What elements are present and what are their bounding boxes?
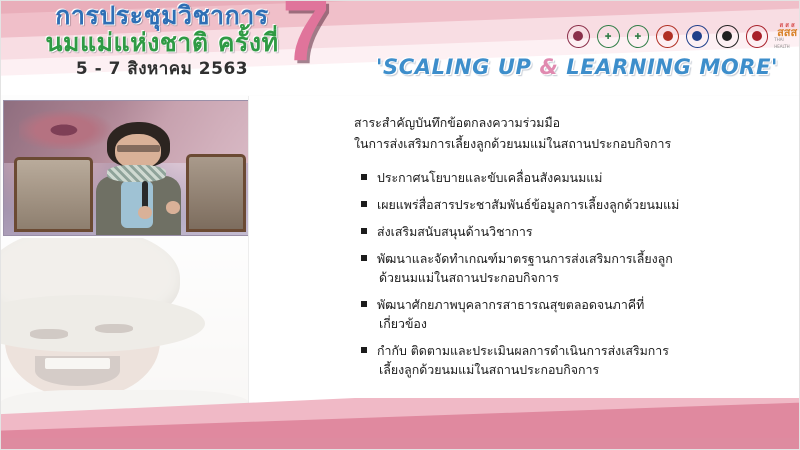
logo-royal-seal [566,24,591,49]
partner-logo-strip: ✚ ✚ ส ส ส สสส THAI HEALTH [566,22,800,50]
speaker-glasses [117,145,160,152]
conference-title-line2: นมแม่แห่งชาติ ครั้งที่ [12,29,312,57]
slide-footer-band [0,398,800,450]
logo-thaihealth: ส ส ส สสส THAI HEALTH [774,22,800,50]
bullet-square-icon [361,347,367,353]
conference-title-line1: การประชุมวิชาการ [12,2,312,30]
speaker-hand-right [166,201,180,213]
slide-header: การประชุมวิชาการ นมแม่แห่งชาติ ครั้งที่ … [0,0,800,95]
bullet-line2: เลี้ยงลูกด้วยนมแม่ในสถานประกอบกิจการ [377,360,786,379]
logo-royal-crest [685,24,710,49]
bullet-square-icon [361,301,367,307]
watermark-child-eye-right [95,324,133,334]
speaker-inner-top [121,181,153,228]
content-lead-line1: สาระสำคัญบันทึกข้อตกลงความร่วมมือ [354,112,784,133]
conference-tagline: 'SCALING UP & LEARNING MORE' [362,55,792,79]
bullet-line2: ด้วยนมแม่ในสถานประกอบกิจการ [377,268,786,287]
watermark-child-eye-left [30,329,68,339]
tagline-ampersand: & [539,55,558,79]
bullet-line1: กำกับ ติดตามและประเมินผลการดำเนินการส่งเ… [377,343,669,358]
bullet-line1: ประกาศนโยบายและขับเคลื่อนสังคมนมแม่ [377,170,602,185]
content-lead-line2: ในการส่งเสริมการเลี้ยงลูกด้วยนมแม่ในสถาน… [354,133,784,154]
bullet-square-icon [361,228,367,234]
bullet-item: ส่งเสริมสนับสนุนด้านวิชาการ [361,222,786,241]
logo-thaihealth-sub: THAI HEALTH [774,36,800,50]
bullet-line1: พัฒนาและจัดทำเกณฑ์มาตรฐานการส่งเสริมการเ… [377,251,673,266]
bullet-line1: ส่งเสริมสนับสนุนด้านวิชาการ [377,224,533,239]
watermark-child-teeth [45,358,110,369]
tagline-part-close: LEARNING MORE' [558,55,778,79]
logo-thaihealth-main: สสส [777,29,797,36]
bullet-square-icon [361,174,367,180]
bullet-line1: พัฒนาศักยภาพบุคลากรสาธารณสุขตลอดจนภาคีที… [377,297,644,312]
logo-ministry-public-health: ✚ [596,24,621,49]
speaker-scarf [107,165,166,182]
logo-department-health: ✚ [626,24,651,49]
tagline-part-open: 'SCALING UP [376,55,540,79]
content-bullet-list: ประกาศนโยบายและขับเคลื่อนสังคมนมแม่ เผยแ… [361,168,786,387]
bullet-item: เผยแพร่สื่อสารประชาสัมพันธ์ข้อมูลการเลี้… [361,195,786,214]
speaker-figure [92,122,185,235]
edition-number: 7 [282,0,330,74]
slide-content-panel: สาระสำคัญบันทึกข้อตกลงความร่วมมือ ในการส… [248,96,800,416]
bullet-item: พัฒนาศักยภาพบุคลากรสาธารณสุขตลอดจนภาคีที… [361,295,786,333]
armchair-left [14,157,93,233]
header-white-strip [0,78,800,95]
bullet-line2: เกี่ยวข้อง [377,314,786,333]
content-lead: สาระสำคัญบันทึกข้อตกลงความร่วมมือ ในการส… [354,112,784,154]
footer-band-base [0,438,800,450]
session-video-speaker[interactable] [3,100,249,236]
conference-title-block: การประชุมวิชาการ นมแม่แห่งชาติ ครั้งที่ … [12,2,312,80]
bullet-square-icon [361,255,367,261]
bullet-square-icon [361,201,367,207]
bullet-item: พัฒนาและจัดทำเกณฑ์มาตรฐานการส่งเสริมการเ… [361,249,786,287]
logo-red-emblem [745,24,770,49]
bullet-item: ประกาศนโยบายและขับเคลื่อนสังคมนมแม่ [361,168,786,187]
presentation-slide: การประชุมวิชาการ นมแม่แห่งชาติ ครั้งที่ … [0,0,800,450]
conference-date: 5 - 7 สิงหาคม 2563 [12,58,312,80]
bullet-line1: เผยแพร่สื่อสารประชาสัมพันธ์ข้อมูลการเลี้… [377,197,679,212]
bullet-item: กำกับ ติดตามและประเมินผลการดำเนินการส่งเ… [361,341,786,379]
logo-university-black [715,24,740,49]
logo-thai-garuda-red [655,24,680,49]
armchair-right [186,154,246,232]
